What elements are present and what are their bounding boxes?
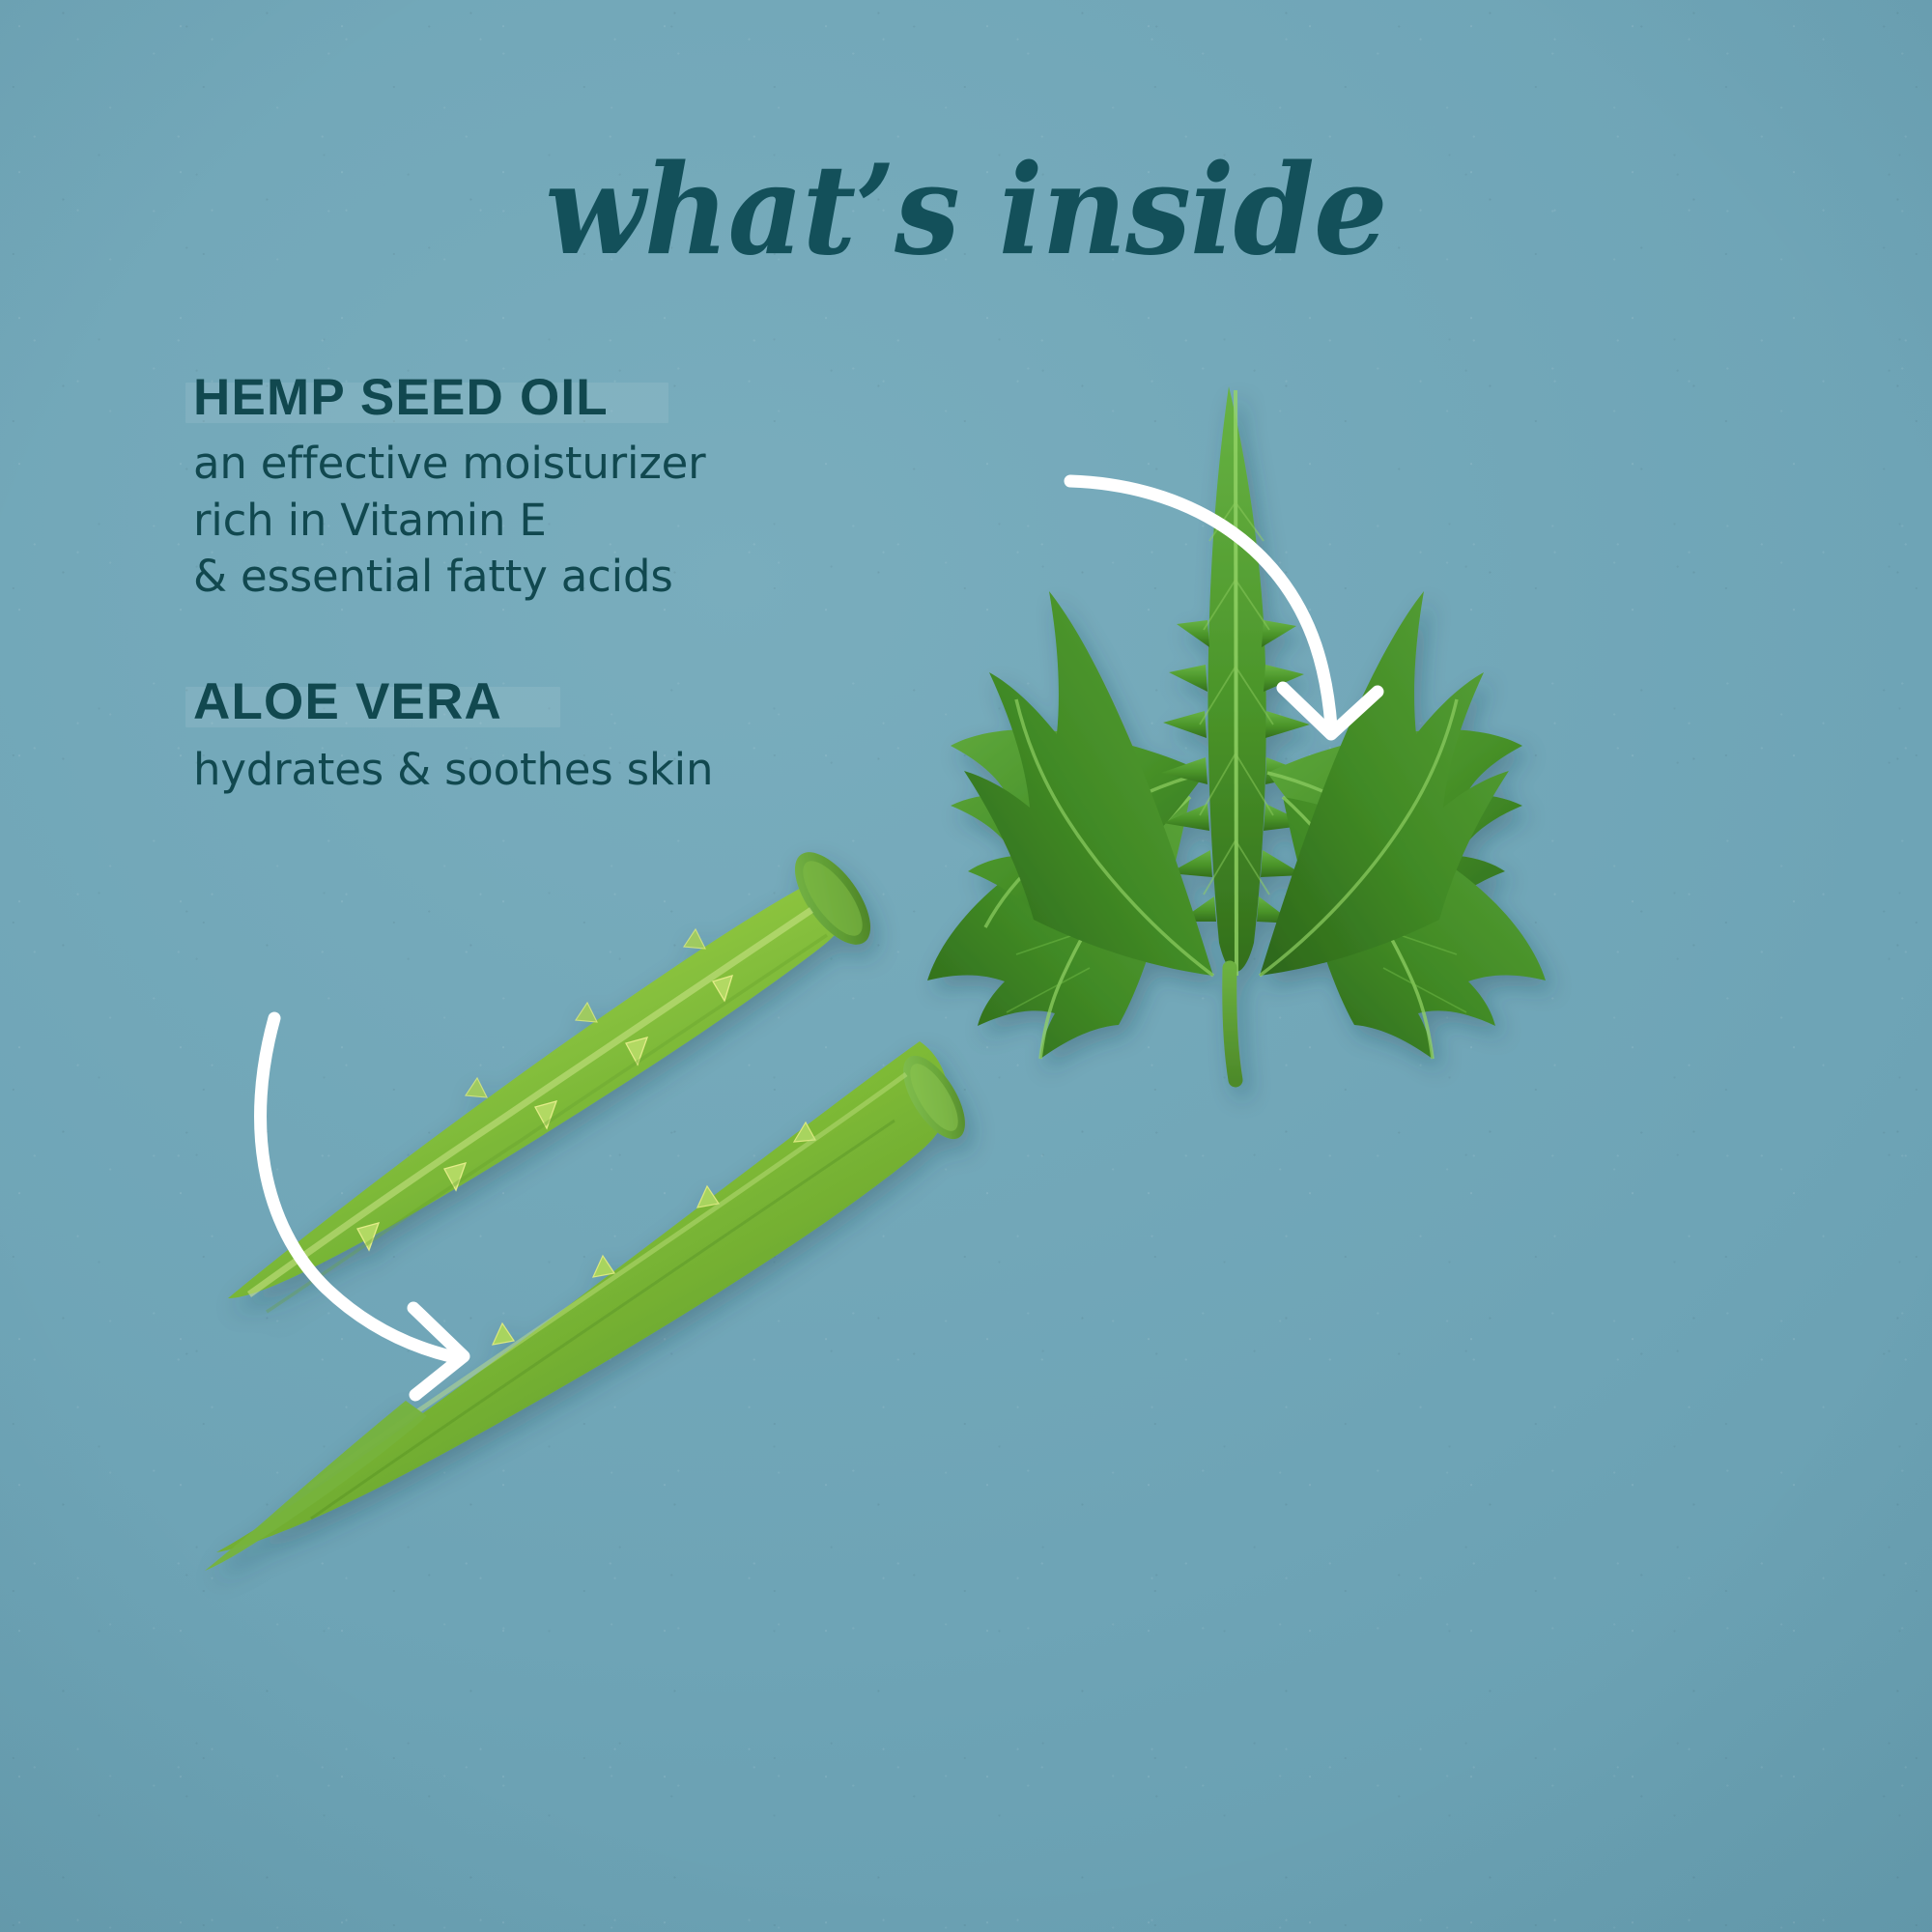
aloe-heading-wrap: ALOE VERA <box>193 673 502 730</box>
ingredient-hemp-seed-oil: HEMP SEED OIL an effective moisturizer r… <box>193 369 889 606</box>
aloe-vera-image <box>203 821 1034 1594</box>
hemp-stem <box>1230 968 1236 1080</box>
aloe-description: hydrates & soothes skin <box>193 742 889 799</box>
ingredient-list: HEMP SEED OIL an effective moisturizer r… <box>193 369 889 799</box>
hemp-heading-wrap: HEMP SEED OIL <box>193 369 609 426</box>
ingredient-aloe-vera: ALOE VERA hydrates & soothes skin <box>193 673 889 799</box>
infographic-canvas: what’s inside HEMP SEED OIL an effective… <box>0 0 1932 1932</box>
hemp-heading: HEMP SEED OIL <box>193 369 609 426</box>
hemp-description: an effective moisturizer rich in Vitamin… <box>193 436 889 606</box>
aloe-vera-graphic <box>203 821 1034 1594</box>
aloe-heading: ALOE VERA <box>193 673 502 730</box>
page-title: what’s inside <box>58 143 1874 279</box>
aloe-tip <box>205 1401 427 1571</box>
